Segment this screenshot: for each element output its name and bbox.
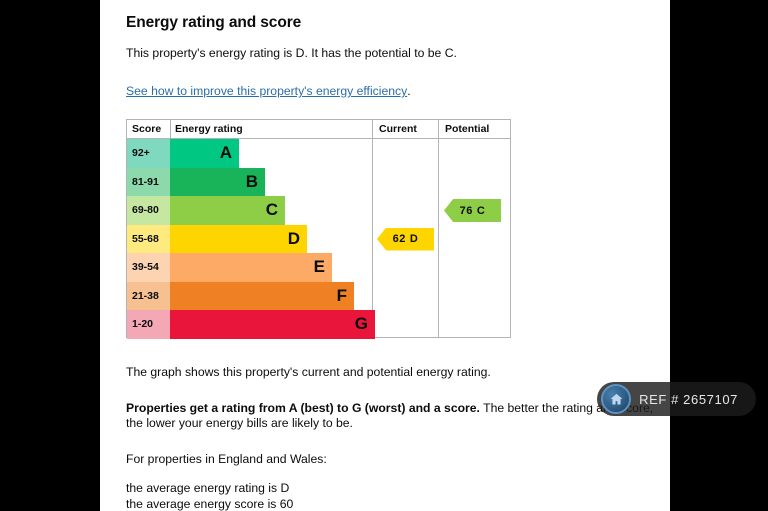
graph-caption: The graph shows this property's current … [126,365,491,379]
energy-rating-chart: Score Energy rating Current Potential 92… [126,119,511,338]
rating-explainer: Properties get a rating from A (best) to… [126,401,656,431]
marker-potential-score: 76 [460,205,473,217]
rating-bands: 92+A81-91B69-80C55-68D39-54E21-38F1-20G [127,139,510,337]
rating-bar-f: F [170,282,354,311]
rating-explainer-bold: Properties get a rating from A (best) to… [126,401,480,415]
country-note: For properties in England and Wales: [126,452,327,466]
score-range-d: 55-68 [127,225,170,254]
score-range-e: 39-54 [127,253,170,282]
score-range-f: 21-38 [127,282,170,311]
marker-current-score: 62 [393,233,406,245]
page-title: Energy rating and score [126,14,301,32]
document-page: Energy rating and score This property's … [100,0,670,511]
reference-badge[interactable]: REF # 2657107 [597,382,756,416]
score-range-a: 92+ [127,139,170,168]
rating-bar-b: B [170,168,265,197]
rating-bar-e: E [170,253,332,282]
column-header-current: Current [379,120,417,138]
link-trailing-period: . [407,84,410,98]
chart-header-row: Score Energy rating Current Potential [127,120,510,139]
average-rating-line: the average energy rating is D [126,481,293,497]
rating-bar-a: A [170,139,239,168]
reference-badge-label: REF # 2657107 [639,392,738,407]
marker-current-band: D [410,233,418,245]
average-score-line: the average energy score is 60 [126,497,293,511]
score-range-b: 81-91 [127,168,170,197]
rating-band-b: 81-91B [127,168,510,197]
improve-efficiency-link-wrap: See how to improve this property's energ… [126,84,411,98]
intro-text: This property's energy rating is D. It h… [126,46,457,60]
column-header-rating: Energy rating [175,120,243,138]
rating-bar-c: C [170,196,285,225]
column-header-potential: Potential [445,120,489,138]
rating-band-e: 39-54E [127,253,510,282]
rating-band-f: 21-38F [127,282,510,311]
rating-band-g: 1-20G [127,310,510,339]
column-header-score: Score [132,120,161,138]
current-rating-marker: 62D [377,228,434,251]
score-range-g: 1-20 [127,310,170,339]
rating-band-a: 92+A [127,139,510,168]
rating-band-d: 55-68D [127,225,510,254]
score-range-c: 69-80 [127,196,170,225]
potential-rating-marker: 76C [444,199,501,222]
averages-block: the average energy rating is D the avera… [126,481,293,511]
rating-bar-d: D [170,225,307,254]
home-icon [601,384,631,414]
screenshot-root: Energy rating and score This property's … [0,0,768,511]
marker-potential-band: C [477,205,485,217]
rating-bar-g: G [170,310,375,339]
improve-efficiency-link[interactable]: See how to improve this property's energ… [126,84,407,98]
